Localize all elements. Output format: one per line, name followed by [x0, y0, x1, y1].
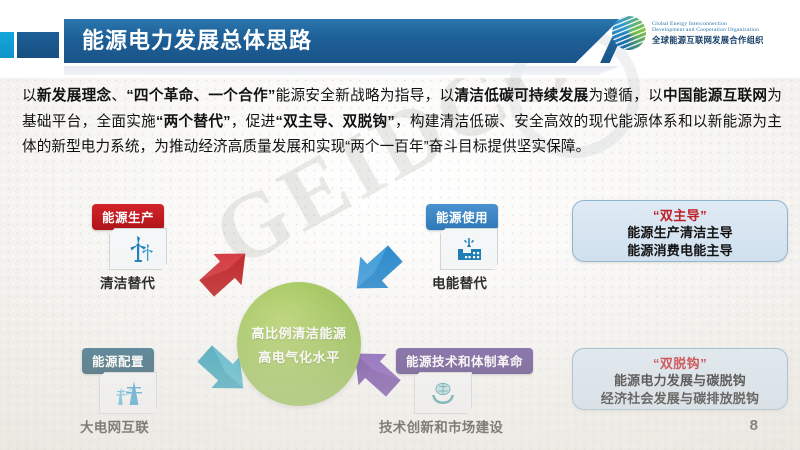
logo-en-line2: Development and Cooperation Organization: [652, 27, 764, 34]
transmission-tower-icon: [99, 372, 157, 414]
wind-turbine-icon: [109, 228, 167, 270]
accent-block-navy: [17, 32, 59, 58]
innovation-hands-icon: [414, 372, 472, 414]
page-number: 8: [750, 417, 758, 434]
caption-electricity-substitution: 电能替代: [432, 272, 487, 292]
organization-logo: Global Energy Interconnection Developmen…: [612, 16, 764, 50]
logo-text-block: Global Energy Interconnection Developmen…: [652, 21, 764, 46]
caption-tech-innovation: 技术创新和市场建设: [379, 416, 503, 436]
badge-energy-allocation[interactable]: 能源配置: [82, 348, 154, 374]
badge-energy-production[interactable]: 能源生产: [92, 204, 164, 230]
factory-icon: [440, 228, 498, 270]
panel-dual-leading-title: “双主导”: [581, 207, 779, 224]
panel-dual-decoupling-title: “双脱钩”: [581, 355, 779, 372]
logo-en-line1: Global Energy Interconnection: [652, 21, 764, 28]
panel-dual-leading-line1: 能源生产清洁主导: [581, 224, 779, 242]
caption-grid-interconnection: 大电网互联: [80, 416, 149, 436]
panel-dual-decoupling-line2: 经济社会发展与碳排放脱钩: [581, 390, 779, 408]
logo-cn-line: 全球能源互联网发展合作组织: [652, 36, 764, 46]
center-line-1: 高比例清洁能源: [251, 323, 346, 342]
slide-header: 能源电力发展总体思路 Global Energy Interconnection…: [0, 0, 800, 78]
globe-icon: [612, 16, 646, 50]
arrow-to-production: [188, 238, 264, 304]
panel-dual-leading: “双主导” 能源生产清洁主导 能源消费电能主导: [572, 200, 788, 262]
page-title: 能源电力发展总体思路: [82, 24, 312, 58]
arrow-to-usage: [338, 238, 414, 304]
header-underline: [64, 66, 620, 75]
center-goal-circle: 高比例清洁能源 高电气化水平: [237, 282, 361, 406]
slide-canvas: GEIDCO 能源电力发展总体思路 Global Energy Intercon…: [0, 0, 800, 450]
center-line-2: 高电气化水平: [258, 347, 340, 366]
panel-dual-leading-line2: 能源消费电能主导: [581, 242, 779, 260]
panel-dual-decoupling: “双脱钩” 能源电力发展与碳脱钩 经济社会发展与碳排放脱钩: [572, 348, 788, 410]
badge-energy-revolution[interactable]: 能源技术和体制革命: [396, 348, 533, 374]
panel-dual-decoupling-line1: 能源电力发展与碳脱钩: [581, 372, 779, 390]
badge-energy-usage[interactable]: 能源使用: [426, 204, 498, 230]
body-paragraph: 以新发展理念、“四个革命、一个合作”能源安全新战略为指导，以清洁低碳可持续发展为…: [22, 84, 782, 161]
caption-clean-substitution: 清洁替代: [100, 272, 155, 292]
accent-block-cyan: [0, 32, 14, 58]
